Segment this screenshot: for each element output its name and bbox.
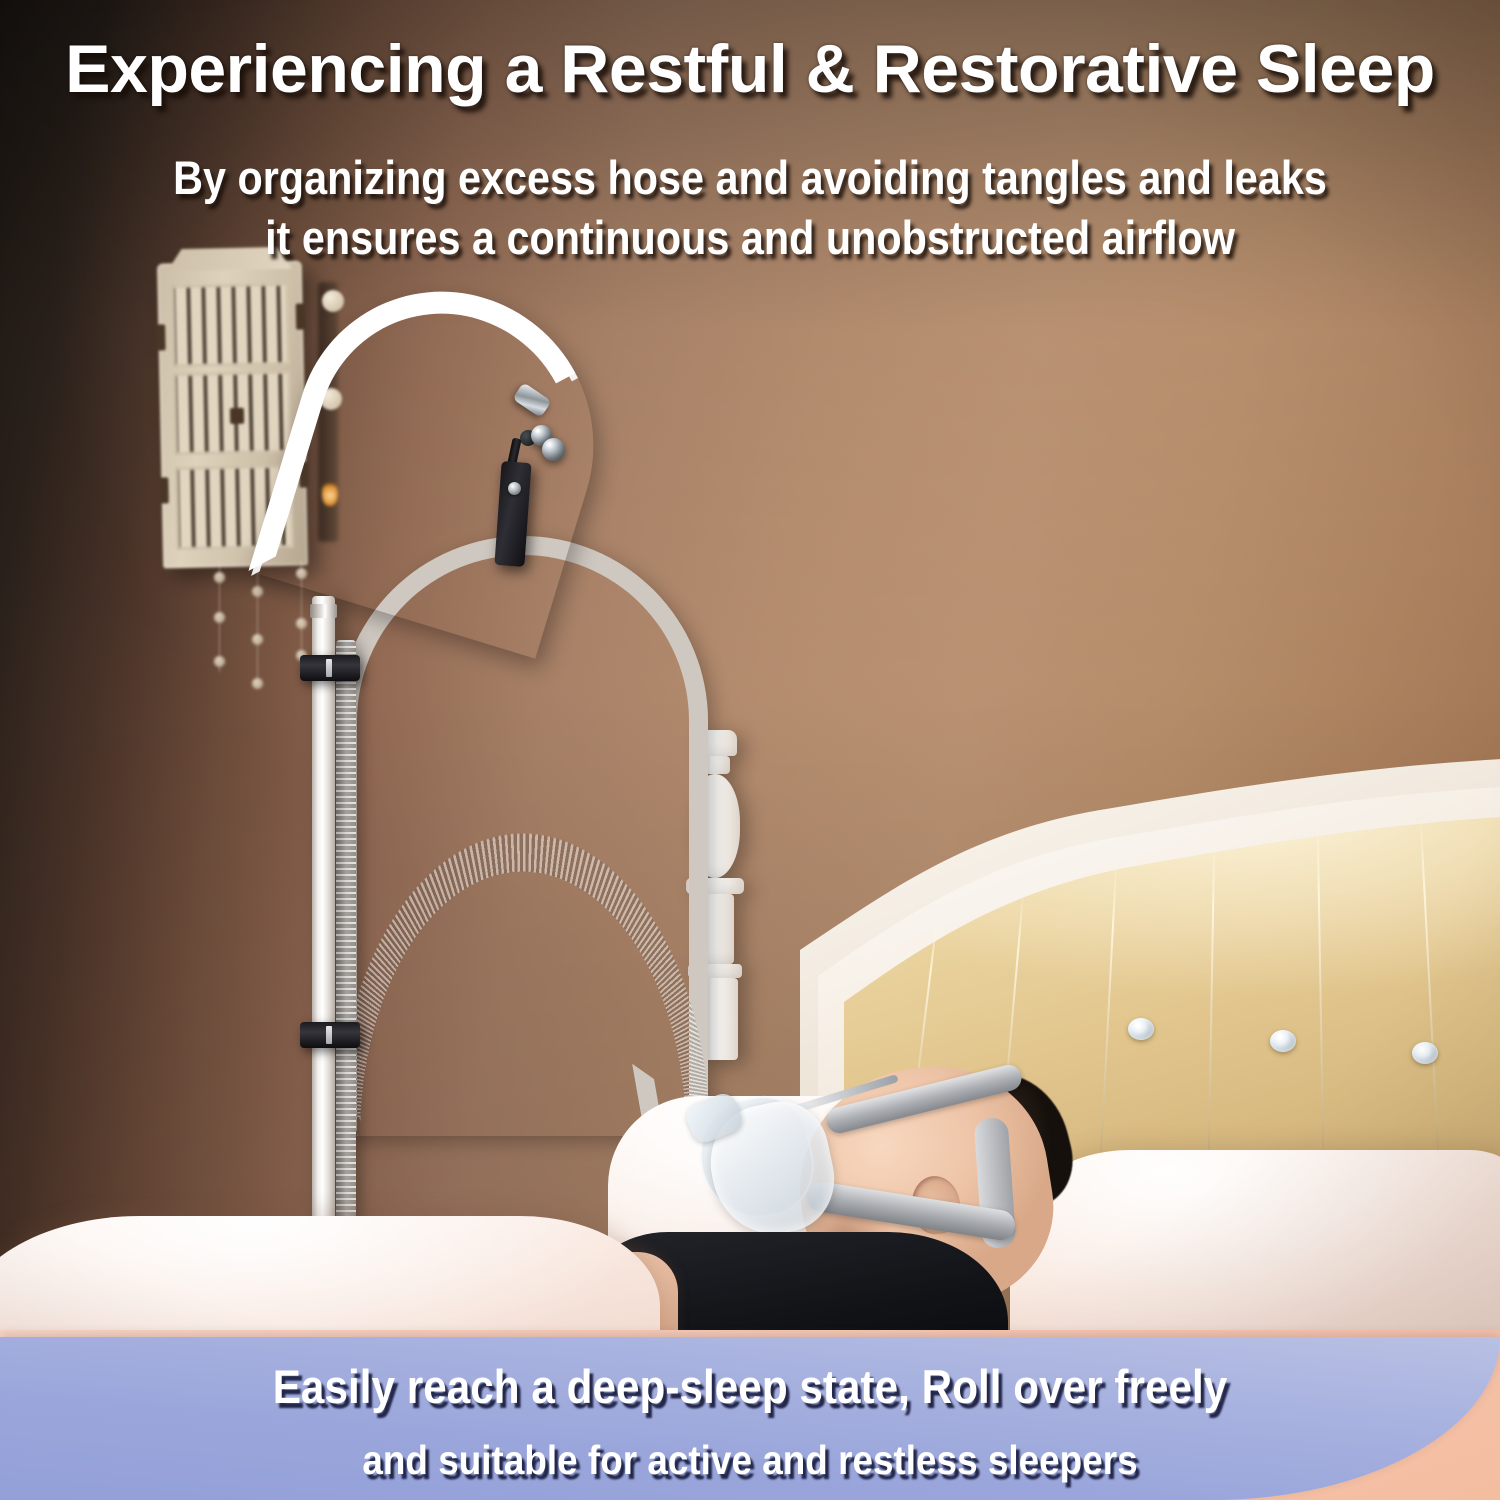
page-subtitle: By organizing excess hose and avoiding t… bbox=[90, 148, 1410, 268]
footer-banner: Easily reach a deep-sleep state, Roll ov… bbox=[0, 1337, 1500, 1500]
banner-line-1: Easily reach a deep-sleep state, Roll ov… bbox=[75, 1359, 1425, 1414]
banner-line-2: and suitable for active and restless sle… bbox=[75, 1437, 1425, 1484]
subtitle-line-1: By organizing excess hose and avoiding t… bbox=[90, 148, 1410, 208]
subtitle-line-2: it ensures a continuous and unobstructed… bbox=[90, 208, 1410, 268]
product-lifestyle-image: Experiencing a Restful & Restorative Sle… bbox=[0, 0, 1500, 1500]
page-title: Experiencing a Restful & Restorative Sle… bbox=[0, 30, 1500, 108]
